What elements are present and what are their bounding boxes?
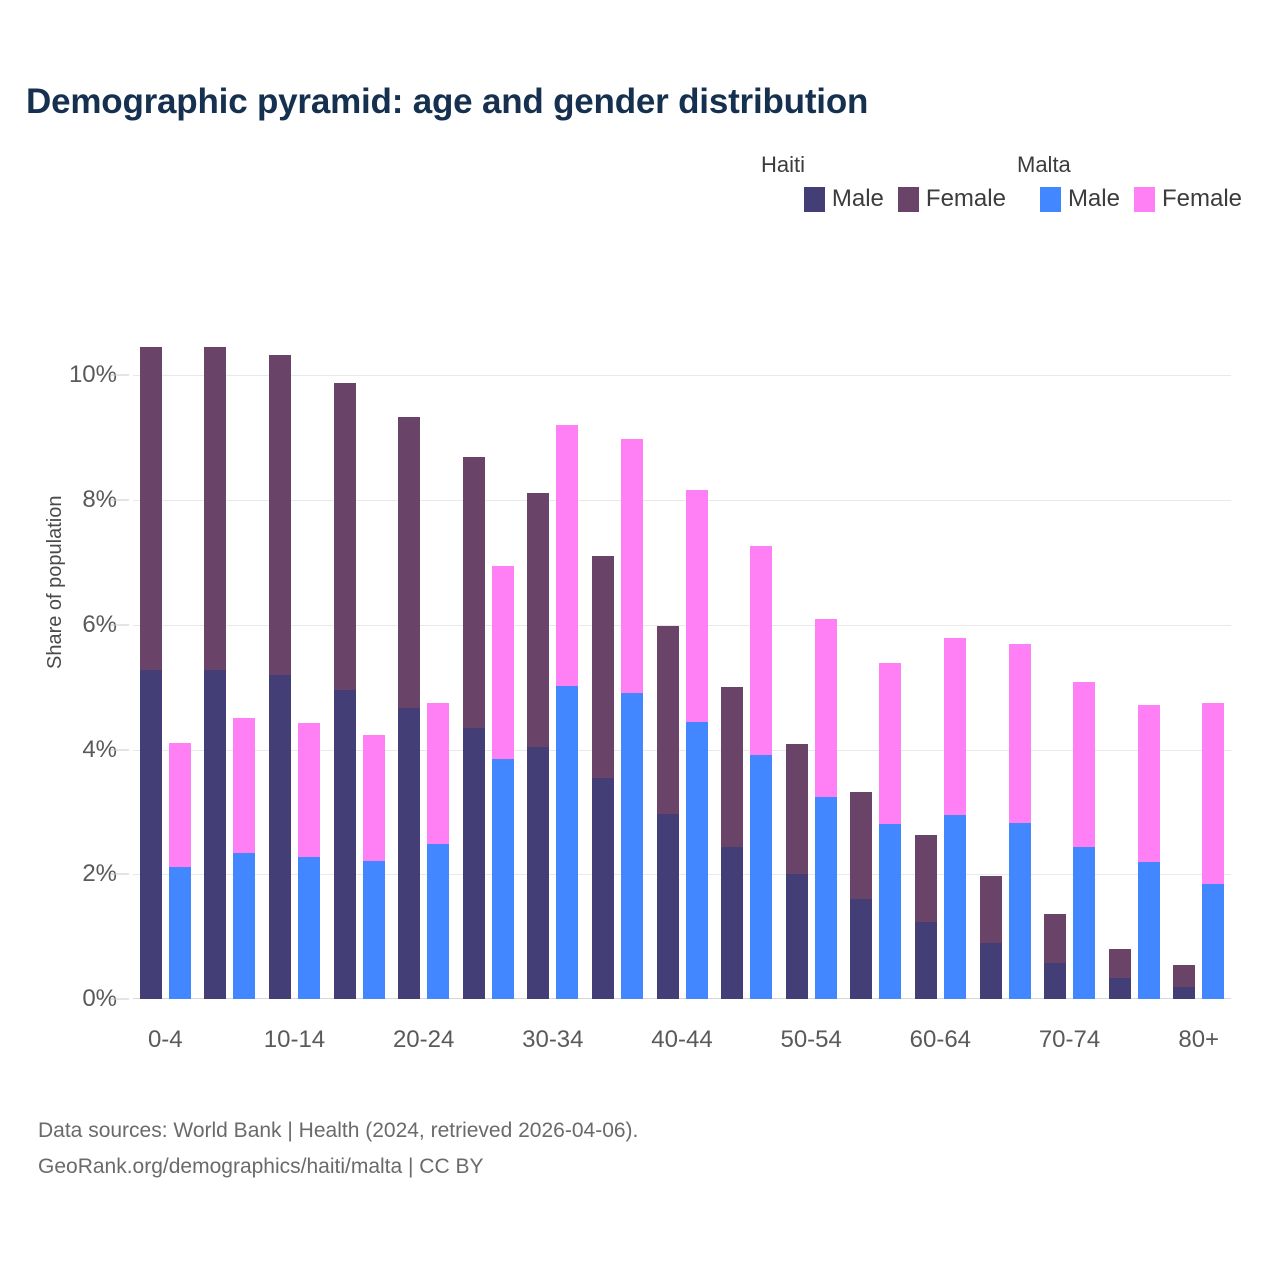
segment-haiti-male-40-44[interactable]	[657, 814, 679, 999]
bar-group-80+	[1167, 338, 1232, 999]
x-tick-label-10-14: 10-14	[264, 1026, 325, 1054]
bar-haiti-35-39[interactable]	[592, 556, 614, 999]
segment-malta-female-15-19[interactable]	[363, 735, 385, 862]
segment-haiti-female-0-4[interactable]	[140, 347, 162, 670]
bar-group-30-34	[521, 338, 586, 999]
bar-malta-70-74[interactable]	[1073, 682, 1095, 999]
bar-group-0-4	[133, 338, 198, 999]
legend-group-haiti-title: Haiti	[761, 152, 1017, 178]
bar-group-5-9	[198, 338, 263, 999]
segment-haiti-male-0-4[interactable]	[140, 670, 162, 999]
segment-malta-female-20-24[interactable]	[427, 703, 449, 843]
legend-items: Male Female Male Female	[804, 185, 1242, 213]
segment-malta-male-45-49[interactable]	[750, 755, 772, 999]
bar-haiti-50-54[interactable]	[786, 744, 808, 999]
legend-swatch-malta-female	[1134, 187, 1155, 212]
bar-haiti-25-29[interactable]	[463, 456, 485, 999]
x-tick-label-70-74: 70-74	[1039, 1026, 1100, 1054]
footer-line-1: Data sources: World Bank | Health (2024,…	[38, 1113, 638, 1149]
bar-malta-25-29[interactable]	[492, 566, 514, 999]
segment-malta-female-60-64[interactable]	[944, 638, 966, 815]
y-axis-label: Share of population	[44, 496, 67, 669]
segment-haiti-female-5-9[interactable]	[204, 347, 226, 670]
segment-haiti-male-20-24[interactable]	[398, 708, 420, 999]
bar-group-20-24	[391, 338, 456, 999]
bar-haiti-5-9[interactable]	[204, 347, 226, 999]
legend-item-malta-female[interactable]: Female	[1134, 185, 1242, 213]
legend-swatch-haiti-female	[898, 187, 919, 212]
segment-haiti-female-45-49[interactable]	[721, 687, 743, 847]
segment-haiti-male-10-14[interactable]	[269, 675, 291, 999]
segment-malta-female-80+[interactable]	[1202, 703, 1224, 884]
segment-haiti-female-65-69[interactable]	[980, 876, 1002, 943]
segment-malta-male-5-9[interactable]	[233, 853, 255, 999]
segment-malta-female-50-54[interactable]	[815, 619, 837, 797]
segment-malta-female-0-4[interactable]	[169, 743, 191, 868]
segment-haiti-male-45-49[interactable]	[721, 847, 743, 999]
x-tick-label-20-24: 20-24	[393, 1026, 454, 1054]
bar-malta-80+[interactable]	[1202, 703, 1224, 999]
x-tick-label-60-64: 60-64	[910, 1026, 971, 1054]
bar-malta-5-9[interactable]	[233, 718, 255, 999]
segment-haiti-female-60-64[interactable]	[915, 835, 937, 922]
chart-page: Demographic pyramid: age and gender dist…	[0, 0, 1280, 1280]
segment-malta-male-40-44[interactable]	[686, 722, 708, 999]
chart-legend: Haiti Malta Male Female Male Female	[761, 152, 1242, 213]
bar-haiti-30-34[interactable]	[527, 493, 549, 999]
segment-malta-male-80+[interactable]	[1202, 884, 1224, 999]
bar-malta-40-44[interactable]	[686, 490, 708, 999]
bar-malta-30-34[interactable]	[556, 425, 578, 999]
segment-malta-male-15-19[interactable]	[363, 861, 385, 999]
legend-item-haiti-male[interactable]: Male	[804, 185, 884, 213]
segment-malta-male-20-24[interactable]	[427, 844, 449, 999]
segment-haiti-male-80+[interactable]	[1173, 987, 1195, 999]
segment-haiti-female-10-14[interactable]	[269, 355, 291, 675]
legend-group-malta-title: Malta	[1017, 152, 1242, 178]
x-tick-label-30-34: 30-34	[522, 1026, 583, 1054]
bar-malta-20-24[interactable]	[427, 703, 449, 999]
bar-group-75-79	[1102, 338, 1167, 999]
legend-label-malta-male: Male	[1068, 185, 1120, 213]
legend-label-haiti-male: Male	[832, 185, 884, 213]
bar-group-45-49	[714, 338, 779, 999]
segment-haiti-female-20-24[interactable]	[398, 417, 420, 708]
segment-haiti-female-30-34[interactable]	[527, 493, 549, 747]
bar-haiti-20-24[interactable]	[398, 417, 420, 999]
y-tick-mark-8	[111, 500, 129, 501]
segment-malta-male-35-39[interactable]	[621, 693, 643, 999]
plot-area	[133, 338, 1231, 999]
bar-group-10-14	[262, 338, 327, 999]
bar-group-55-59	[844, 338, 909, 999]
segment-haiti-female-25-29[interactable]	[463, 457, 485, 728]
bar-haiti-40-44[interactable]	[657, 626, 679, 999]
bar-haiti-75-79[interactable]	[1109, 949, 1131, 999]
x-tick-label-80+: 80+	[1178, 1026, 1219, 1054]
segment-haiti-female-55-59[interactable]	[850, 792, 872, 899]
bar-malta-45-49[interactable]	[750, 546, 772, 999]
segment-haiti-male-25-29[interactable]	[463, 728, 485, 999]
bar-haiti-15-19[interactable]	[334, 383, 356, 999]
bar-groups	[133, 338, 1231, 999]
segment-malta-male-0-4[interactable]	[169, 867, 191, 999]
y-tick-mark-2	[111, 874, 129, 875]
segment-malta-female-70-74[interactable]	[1073, 682, 1095, 847]
segment-malta-female-40-44[interactable]	[686, 490, 708, 722]
y-tick-label-10: 10%	[69, 361, 117, 389]
bar-malta-10-14[interactable]	[298, 723, 320, 999]
segment-haiti-male-30-34[interactable]	[527, 747, 549, 999]
segment-malta-female-55-59[interactable]	[879, 663, 901, 825]
bar-malta-75-79[interactable]	[1138, 705, 1160, 999]
segment-malta-female-75-79[interactable]	[1138, 705, 1160, 862]
segment-malta-female-35-39[interactable]	[621, 439, 643, 693]
segment-malta-male-65-69[interactable]	[1009, 823, 1031, 999]
bar-haiti-65-69[interactable]	[980, 876, 1002, 999]
bar-haiti-70-74[interactable]	[1044, 914, 1066, 999]
y-tick-mark-10	[111, 375, 129, 376]
footer: Data sources: World Bank | Health (2024,…	[38, 1113, 638, 1185]
segment-haiti-male-5-9[interactable]	[204, 670, 226, 999]
segment-haiti-male-60-64[interactable]	[915, 922, 937, 999]
segment-malta-male-55-59[interactable]	[879, 824, 901, 999]
segment-malta-male-50-54[interactable]	[815, 797, 837, 999]
legend-item-malta-male[interactable]: Male	[1040, 185, 1120, 213]
page-title: Demographic pyramid: age and gender dist…	[26, 82, 868, 122]
bar-haiti-10-14[interactable]	[269, 355, 291, 999]
bar-haiti-80+[interactable]	[1173, 965, 1195, 999]
bar-haiti-55-59[interactable]	[850, 792, 872, 999]
bar-group-65-69	[973, 338, 1038, 999]
segment-haiti-female-80+[interactable]	[1173, 965, 1195, 987]
segment-malta-male-10-14[interactable]	[298, 857, 320, 999]
bar-malta-0-4[interactable]	[169, 743, 191, 999]
bar-malta-55-59[interactable]	[879, 663, 901, 999]
legend-swatch-haiti-male	[804, 187, 825, 212]
segment-haiti-male-65-69[interactable]	[980, 943, 1002, 999]
segment-haiti-female-70-74[interactable]	[1044, 914, 1066, 963]
legend-swatch-malta-male	[1040, 187, 1061, 212]
legend-group-titles: Haiti Malta	[761, 152, 1242, 178]
segment-haiti-female-40-44[interactable]	[657, 626, 679, 814]
bar-group-35-39	[585, 338, 650, 999]
bar-group-40-44	[650, 338, 715, 999]
bar-malta-60-64[interactable]	[944, 638, 966, 999]
bar-group-15-19	[327, 338, 392, 999]
bar-malta-15-19[interactable]	[363, 735, 385, 999]
segment-haiti-male-15-19[interactable]	[334, 690, 356, 999]
segment-haiti-female-75-79[interactable]	[1109, 949, 1131, 978]
segment-haiti-male-75-79[interactable]	[1109, 978, 1131, 999]
x-tick-label-40-44: 40-44	[651, 1026, 712, 1054]
segment-malta-male-30-34[interactable]	[556, 686, 578, 999]
segment-haiti-female-50-54[interactable]	[786, 744, 808, 874]
legend-label-haiti-female: Female	[926, 185, 1006, 213]
bar-haiti-0-4[interactable]	[140, 347, 162, 999]
y-tick-mark-4	[111, 749, 129, 750]
segment-malta-female-25-29[interactable]	[492, 566, 514, 759]
x-tick-label-50-54: 50-54	[780, 1026, 841, 1054]
legend-item-haiti-female[interactable]: Female	[898, 185, 1006, 213]
bar-group-70-74	[1037, 338, 1102, 999]
segment-malta-female-10-14[interactable]	[298, 723, 320, 857]
segment-malta-male-60-64[interactable]	[944, 815, 966, 999]
bar-malta-65-69[interactable]	[1009, 644, 1031, 999]
y-tick-mark-6	[111, 624, 129, 625]
segment-haiti-female-15-19[interactable]	[334, 383, 356, 690]
bar-malta-50-54[interactable]	[815, 619, 837, 999]
bar-group-25-29	[456, 338, 521, 999]
bar-group-50-54	[779, 338, 844, 999]
segment-malta-male-75-79[interactable]	[1138, 862, 1160, 999]
bar-malta-35-39[interactable]	[621, 439, 643, 999]
footer-line-2: GeoRank.org/demographics/haiti/malta | C…	[38, 1149, 638, 1185]
segment-haiti-male-50-54[interactable]	[786, 874, 808, 999]
segment-haiti-male-70-74[interactable]	[1044, 963, 1066, 999]
bar-haiti-45-49[interactable]	[721, 687, 743, 999]
segment-malta-female-45-49[interactable]	[750, 546, 772, 756]
segment-malta-female-30-34[interactable]	[556, 425, 578, 686]
segment-haiti-female-35-39[interactable]	[592, 556, 614, 779]
legend-label-malta-female: Female	[1162, 185, 1242, 213]
segment-malta-female-5-9[interactable]	[233, 718, 255, 853]
segment-malta-male-70-74[interactable]	[1073, 847, 1095, 999]
bar-group-60-64	[908, 338, 973, 999]
segment-haiti-male-55-59[interactable]	[850, 899, 872, 999]
segment-malta-female-65-69[interactable]	[1009, 644, 1031, 823]
y-tick-mark-0	[111, 999, 129, 1000]
segment-haiti-male-35-39[interactable]	[592, 778, 614, 999]
segment-malta-male-25-29[interactable]	[492, 759, 514, 999]
bar-haiti-60-64[interactable]	[915, 835, 937, 999]
x-tick-label-0-4: 0-4	[148, 1026, 183, 1054]
